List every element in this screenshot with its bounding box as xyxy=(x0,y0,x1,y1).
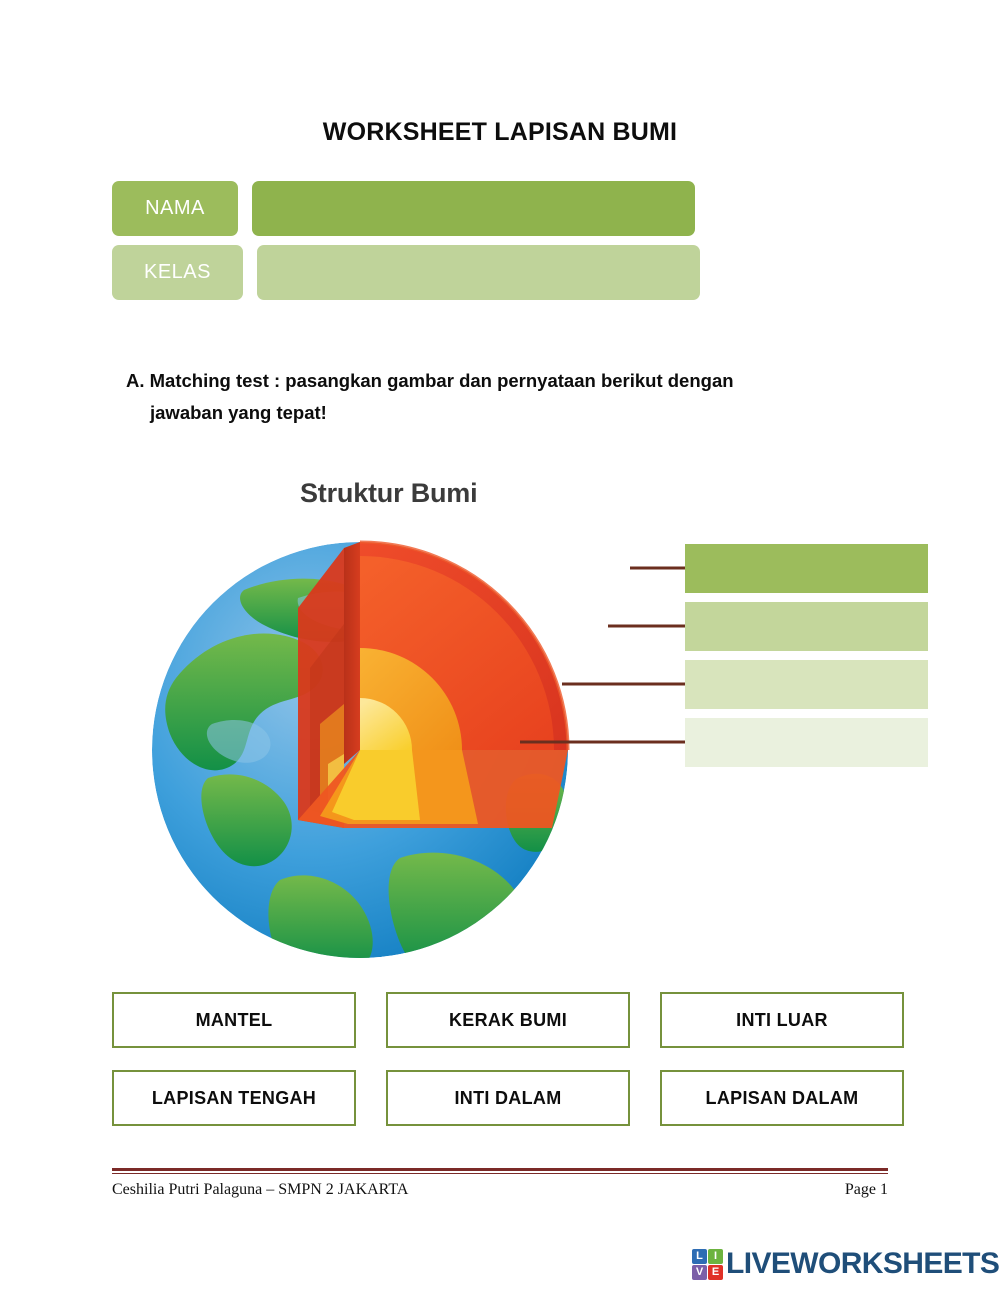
answer-slot-3[interactable] xyxy=(685,660,928,709)
diagram-title: Struktur Bumi xyxy=(300,478,477,509)
option-kerak-bumi[interactable]: KERAK BUMI xyxy=(386,992,630,1048)
footer-author: Ceshilia Putri Palaguna – SMPN 2 JAKARTA xyxy=(112,1181,408,1199)
footer: Ceshilia Putri Palaguna – SMPN 2 JAKARTA… xyxy=(112,1168,888,1199)
worksheet-page: WORKSHEET LAPISAN BUMI NAMA KELAS A. Mat… xyxy=(0,0,1000,1291)
logo-tiles-icon: L I V E xyxy=(692,1249,723,1280)
logo-wordmark: LIVEWORKSHEETS xyxy=(726,1247,999,1281)
answer-slot-2[interactable] xyxy=(685,602,928,651)
option-row-1: MANTEL KERAK BUMI INTI LUAR xyxy=(112,992,922,1048)
answer-slot-1[interactable] xyxy=(685,544,928,593)
nama-input[interactable] xyxy=(252,181,695,236)
footer-text-row: Ceshilia Putri Palaguna – SMPN 2 JAKARTA… xyxy=(112,1181,888,1199)
answer-option-grid: MANTEL KERAK BUMI INTI LUAR LAPISAN TENG… xyxy=(112,992,922,1148)
earth-structure-diagram: Struktur Bumi xyxy=(110,470,940,980)
logo-tile-i: I xyxy=(708,1249,723,1264)
nama-field-row: NAMA xyxy=(112,181,695,236)
logo-tile-l: L xyxy=(692,1249,707,1264)
footer-page-number: Page 1 xyxy=(845,1181,888,1199)
option-lapisan-dalam[interactable]: LAPISAN DALAM xyxy=(660,1070,904,1126)
answer-slot-4[interactable] xyxy=(685,718,928,767)
kelas-field-row: KELAS xyxy=(112,245,700,300)
instruction-line-1: A. Matching test : pasangkan gambar dan … xyxy=(126,365,734,397)
option-row-2: LAPISAN TENGAH INTI DALAM LAPISAN DALAM xyxy=(112,1070,922,1126)
option-mantel[interactable]: MANTEL xyxy=(112,992,356,1048)
liveworksheets-logo: L I V E LIVEWORKSHEETS xyxy=(692,1247,999,1281)
logo-tile-e: E xyxy=(708,1265,723,1280)
option-inti-luar[interactable]: INTI LUAR xyxy=(660,992,904,1048)
section-a-instruction: A. Matching test : pasangkan gambar dan … xyxy=(126,365,916,430)
footer-divider-thick xyxy=(112,1168,888,1171)
option-inti-dalam[interactable]: INTI DALAM xyxy=(386,1070,630,1126)
nama-label: NAMA xyxy=(112,181,238,236)
page-title: WORKSHEET LAPISAN BUMI xyxy=(0,118,1000,147)
callout-group: 1 2 3 4 xyxy=(500,528,940,968)
logo-tile-v: V xyxy=(692,1265,707,1280)
kelas-input[interactable] xyxy=(257,245,700,300)
instruction-line-2: jawaban yang tepat! xyxy=(150,397,916,429)
footer-divider-thin xyxy=(112,1173,888,1174)
option-lapisan-tengah[interactable]: LAPISAN TENGAH xyxy=(112,1070,356,1126)
kelas-label: KELAS xyxy=(112,245,243,300)
